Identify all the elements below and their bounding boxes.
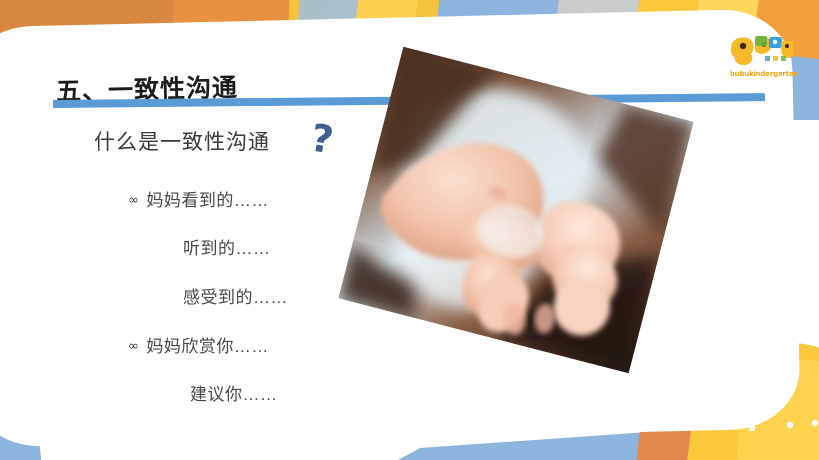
list-item-label: 妈妈看到的…… [146, 191, 269, 210]
list-item: ∞妈妈看到的…… [128, 186, 269, 211]
list-item-label: 听到的…… [183, 239, 271, 258]
question-mark-icon: ? [308, 116, 337, 163]
list-item: 感受到的…… [183, 283, 288, 308]
presentation-slide: 五、一致性沟通 什么是一致性沟通 ? ∞妈妈看到的…… 听到的…… 感受到的……… [0, 0, 819, 460]
slide-content: 五、一致性沟通 什么是一致性沟通 ? ∞妈妈看到的…… 听到的…… 感受到的……… [0, 0, 819, 460]
infinity-bullet-icon: ∞ [128, 193, 139, 208]
infinity-bullet-icon: ∞ [128, 339, 139, 354]
subtitle: 什么是一致性沟通 [94, 126, 270, 156]
list-item: 听到的…… [183, 234, 271, 259]
logo-wordmark: bubukindergarten [725, 70, 803, 78]
bubu-kindergarten-logo: bubukindergarten [725, 32, 803, 78]
list-item: ∞妈妈欣赏你…… [128, 332, 269, 357]
list-item-label: 感受到的…… [183, 288, 288, 307]
list-item-label: 妈妈欣赏你…… [146, 337, 269, 356]
list-item-label: 建议你…… [190, 385, 278, 404]
list-item: 建议你…… [190, 380, 278, 405]
logo-mark-icon [725, 32, 803, 72]
